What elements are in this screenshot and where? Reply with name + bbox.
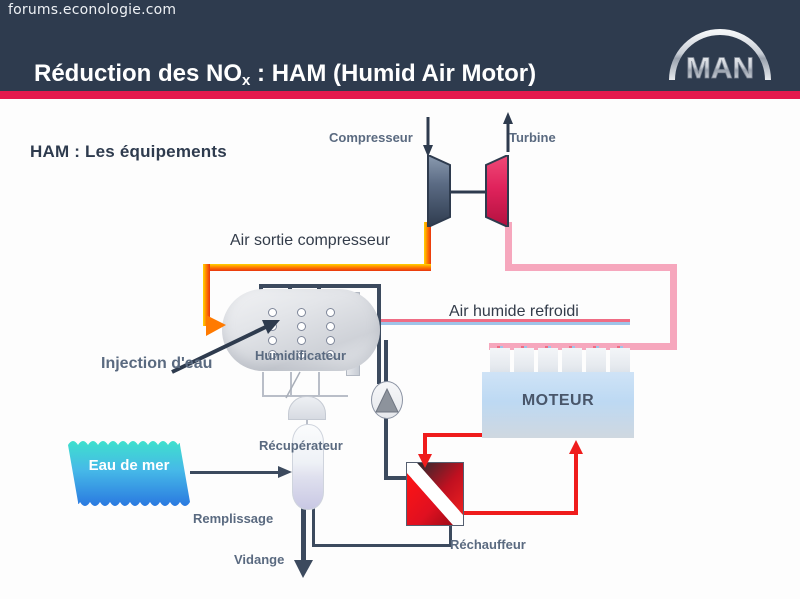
heater-exchanger — [406, 462, 464, 526]
pump-outlet-line — [384, 414, 388, 480]
filling-label: Remplissage — [193, 511, 273, 526]
humid-air-cooled-label: Air humide refroidi — [449, 303, 579, 321]
heating-loop-out-horizontal — [458, 511, 578, 515]
humidifier-drain-line-2 — [290, 372, 292, 396]
svg-text:MAN: MAN — [686, 52, 754, 82]
page-title: Réduction des NOx : HAM (Humid Air Motor… — [34, 62, 536, 86]
turbine-label: Turbine — [509, 130, 556, 145]
title-main-text: Réduction des NO — [34, 60, 242, 87]
forum-watermark: forums.econologie.com — [8, 2, 176, 18]
heating-loop-riser-to-motor — [574, 444, 578, 515]
compressor-shape — [422, 155, 456, 227]
humid-air-line-inner — [378, 322, 630, 325]
humidifier-droplet — [297, 336, 306, 345]
title-subscript: x — [242, 72, 250, 89]
heater-return-horizontal — [312, 544, 452, 547]
section-subtitle: HAM : Les équipements — [30, 142, 227, 162]
recuperator-vessel — [292, 424, 324, 510]
hot-air-pipe-vertical-left — [203, 264, 210, 326]
sea-water-label: Eau de mer — [68, 456, 190, 475]
slide-canvas: forums.econologie.com Réduction des NOx … — [0, 0, 800, 599]
humidifier-drain-line-1 — [262, 372, 264, 396]
pump-triangle-icon — [371, 381, 403, 419]
humidifier-droplet — [268, 336, 277, 345]
humidifier-droplet — [268, 322, 277, 331]
draining-label: Vidange — [234, 552, 284, 567]
turbine-shape — [480, 155, 514, 227]
heating-loop-down-to-heater — [423, 433, 427, 461]
humidifier-label: Humidificateur — [255, 348, 346, 363]
recuperator-label: Récupérateur — [259, 438, 343, 453]
humidifier-drain-line-3 — [318, 372, 320, 396]
sea-water-feed-line — [190, 471, 284, 474]
hot-air-pipe-horizontal — [203, 264, 431, 271]
compressor-label: Compresseur — [329, 130, 413, 145]
motor-block: MOTEUR — [482, 372, 634, 438]
humidifier-droplet — [297, 322, 306, 331]
humidifier-droplet — [268, 308, 277, 317]
title-rest-text: : HAM (Humid Air Motor) — [250, 60, 536, 87]
heater-label: Réchauffeur — [450, 537, 526, 552]
cooled-air-pipe-top-horizontal — [505, 264, 677, 271]
humidifier-droplet — [326, 322, 335, 331]
water-injection-label: Injection d'eau — [101, 355, 212, 373]
humidifier-funnel — [288, 396, 326, 420]
motor-label: MOTEUR — [482, 392, 634, 410]
cooled-air-pipe-turbine-down — [505, 222, 512, 270]
slide-header: forums.econologie.com Réduction des NOx … — [0, 0, 800, 99]
hot-air-pipe-vertical-right — [424, 222, 431, 270]
humidifier-droplet — [297, 308, 306, 317]
humidifier-droplet — [326, 308, 335, 317]
man-arch-logo-icon: MAN — [664, 16, 776, 82]
humidifier-droplet — [326, 336, 335, 345]
air-out-compressor-label: Air sortie compresseur — [230, 232, 390, 250]
sea-water-reservoir: Eau de mer — [68, 437, 190, 510]
pump-feed-line-top — [384, 340, 388, 384]
cooled-air-pipe-right-vertical — [670, 264, 677, 350]
